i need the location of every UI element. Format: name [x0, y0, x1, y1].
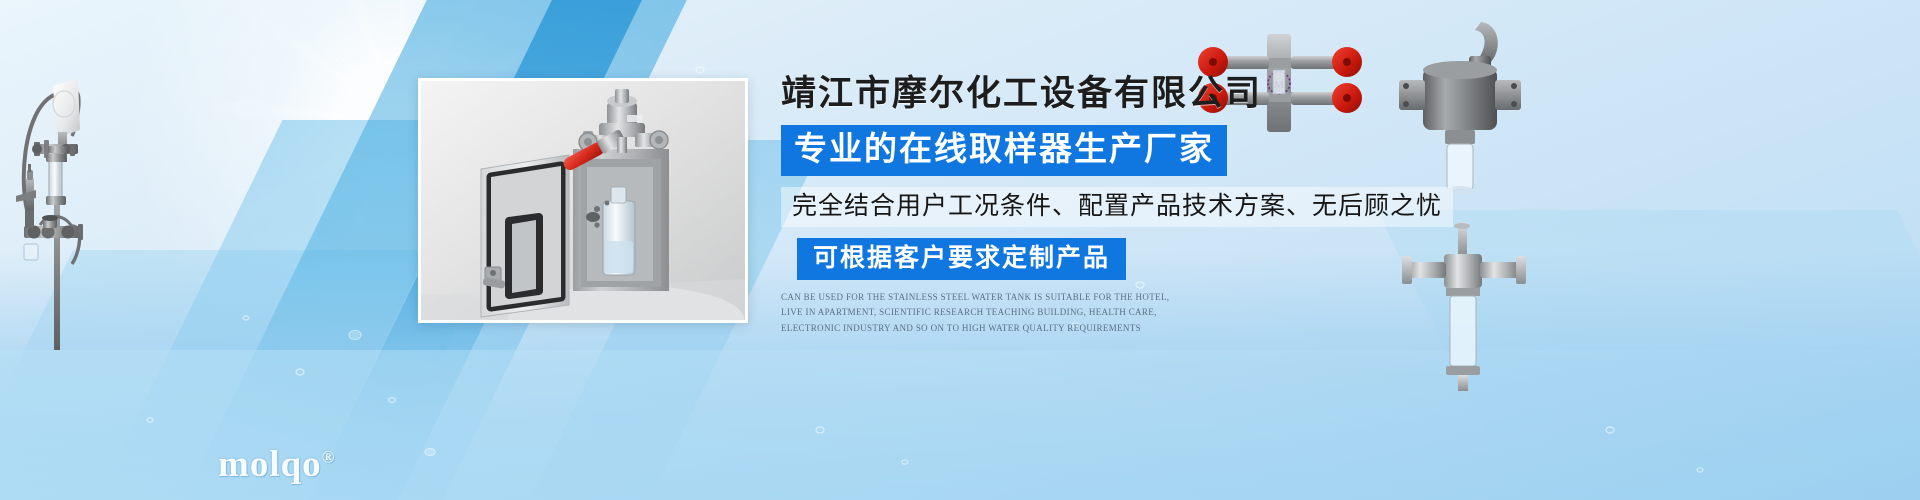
- promo-banner: M: [0, 0, 1920, 500]
- left-equipment-illustration: [10, 20, 180, 350]
- copy-block: 靖江市摩尔化工设备有限公司 专业的在线取样器生产厂家 完全结合用户工况条件、配置…: [775, 72, 1415, 337]
- tagline-custom: 可根据客户要求定制产品: [797, 238, 1126, 280]
- tagline-sub: 完全结合用户工况条件、配置产品技术方案、无后顾之忧: [781, 187, 1453, 227]
- registered-mark-icon: ®: [322, 448, 336, 467]
- watermark-text: molqo: [218, 444, 322, 485]
- tagline-main: 专业的在线取样器生产厂家: [781, 125, 1227, 176]
- product-photo: [418, 78, 748, 323]
- watermark-logo: molqo®: [218, 443, 335, 486]
- english-description: CAN BE USED FOR THE STAINLESS STEEL WATE…: [781, 290, 1181, 337]
- company-name: 靖江市摩尔化工设备有限公司: [781, 72, 1415, 116]
- right-bottom-equipment-illustration: [1400, 222, 1530, 402]
